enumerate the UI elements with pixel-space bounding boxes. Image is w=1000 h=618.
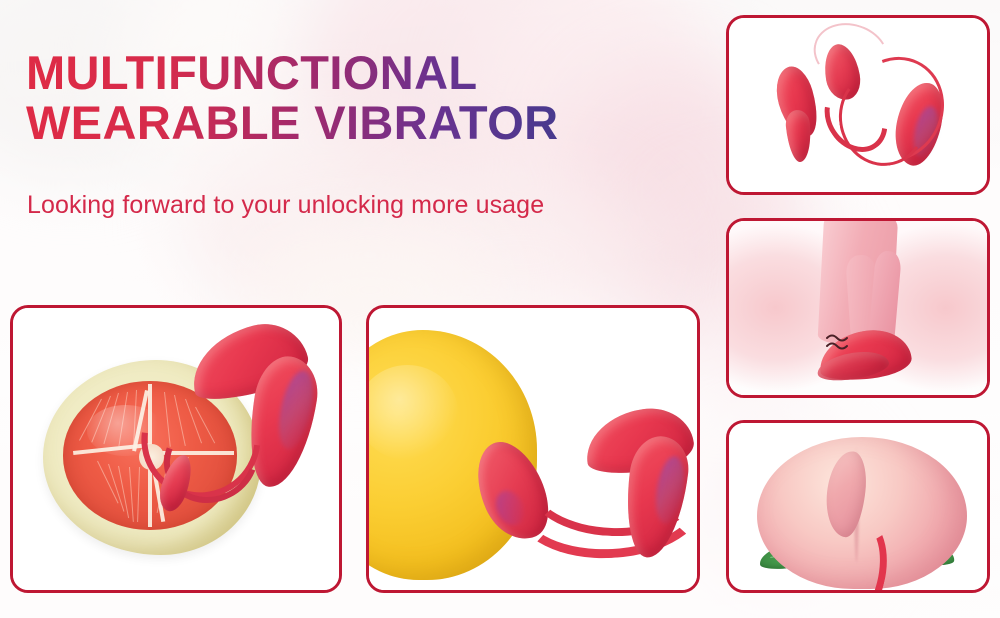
product-hero-panel [726, 15, 990, 195]
product-hero-scene [729, 18, 987, 192]
grapefruit-scene [13, 308, 339, 590]
product-banner: MULTIFUNCTIONAL WEARABLE VIBRATOR Lookin… [0, 0, 1000, 618]
anatomy-scene [729, 221, 987, 395]
peach-demo-panel [726, 420, 990, 593]
anatomy-usage-panel [726, 218, 990, 398]
grapefruit-demo-panel [10, 305, 342, 593]
mango-demo-panel [366, 305, 700, 593]
mango-highlight [369, 365, 458, 460]
headline-title: MULTIFUNCTIONAL WEARABLE VIBRATOR [26, 48, 559, 149]
subtitle-tagline: Looking forward to your unlocking more u… [27, 191, 544, 220]
peach-scene [729, 423, 987, 590]
mango-scene [369, 308, 697, 590]
vibration-waves-icon [825, 331, 859, 353]
